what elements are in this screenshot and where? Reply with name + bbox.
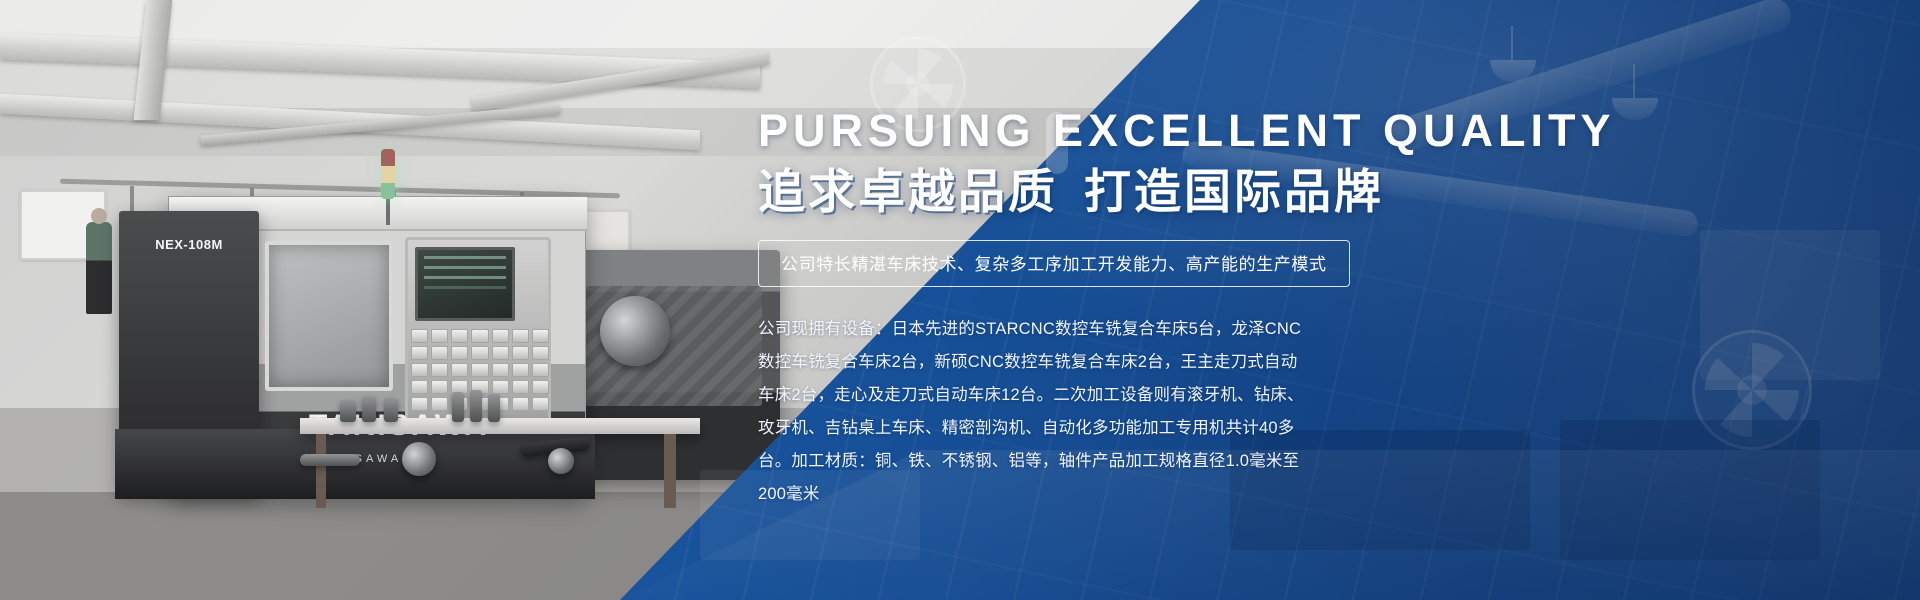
subtitle-box: 公司特长精湛车床技术、复杂多工序加工开发能力、高产能的生产模式	[758, 240, 1350, 287]
hero-banner: NEX-108M TAKISAWA TAKISAWA	[0, 0, 1920, 600]
headline-chinese: 追求卓越品质打造国际品牌	[758, 167, 1858, 218]
headline-chinese-part2: 打造国际品牌	[1084, 165, 1384, 218]
headline-english: PURSUING EXCELLENT QUALITY	[758, 108, 1858, 153]
headline-chinese-part1: 追求卓越品质	[758, 165, 1058, 218]
banner-text-content: PURSUING EXCELLENT QUALITY 追求卓越品质打造国际品牌 …	[758, 108, 1858, 511]
body-paragraph: 公司现拥有设备：日本先进的STARCNC数控车铣复合车床5台，龙泽CNC数控车铣…	[758, 313, 1310, 511]
